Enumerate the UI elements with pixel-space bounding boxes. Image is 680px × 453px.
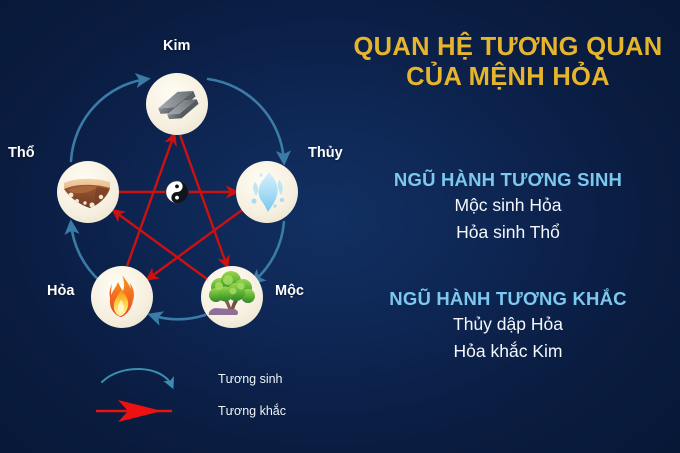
element-label-moc: Mộc [275,283,304,299]
overcoming-pentagram-arrows [114,135,242,279]
section-overcoming-line-2: Hỏa khắc Kim [336,338,680,365]
page-title: QUAN HỆ TƯƠNG QUAN CỦA MỆNH HỎA [336,32,680,92]
yin-yang-icon [166,181,188,203]
element-circle-thuy [236,161,298,223]
page-title-line1: QUAN HỆ TƯƠNG QUAN [354,33,663,61]
section-generating: NGŨ HÀNH TƯƠNG SINH Mộc sinh Hỏa Hỏa sin… [336,168,680,246]
five-elements-diagram: Kim Thủy Mộc Hỏa Thổ [0,0,340,345]
element-label-kim: Kim [163,38,190,54]
legend-label-overcoming: Tương khắc [218,404,286,418]
element-circle-moc [201,266,263,328]
section-overcoming-heading: NGŨ HÀNH TƯƠNG KHẮC [336,287,680,311]
section-overcoming-line-1: Thủy dập Hỏa [336,311,680,338]
legend-symbols [96,352,226,432]
element-label-hoa: Hỏa [47,283,74,299]
infographic-root: Kim Thủy Mộc Hỏa Thổ Tương sinh Tương kh… [0,0,680,453]
element-label-tho: Thổ [8,145,35,161]
text-column: QUAN HỆ TƯƠNG QUAN CỦA MỆNH HỎA NGŨ HÀNH… [336,0,680,453]
legend-generating-arrow [102,369,172,386]
legend-label-generating: Tương sinh [218,372,283,386]
section-generating-heading: NGŨ HÀNH TƯƠNG SINH [336,168,680,192]
legend-overcoming-arrow [96,400,172,422]
section-overcoming: NGŨ HÀNH TƯƠNG KHẮC Thủy dập Hỏa Hỏa khắ… [336,287,680,365]
page-title-line2: CỦA MỆNH HỎA [336,62,680,92]
section-generating-line-2: Hỏa sinh Thổ [336,219,680,246]
element-circle-hoa [91,266,153,328]
section-generating-line-1: Mộc sinh Hỏa [336,192,680,219]
element-circle-kim [146,73,208,135]
element-circle-tho [57,161,119,223]
legend: Tương sinh Tương khắc [96,352,336,432]
